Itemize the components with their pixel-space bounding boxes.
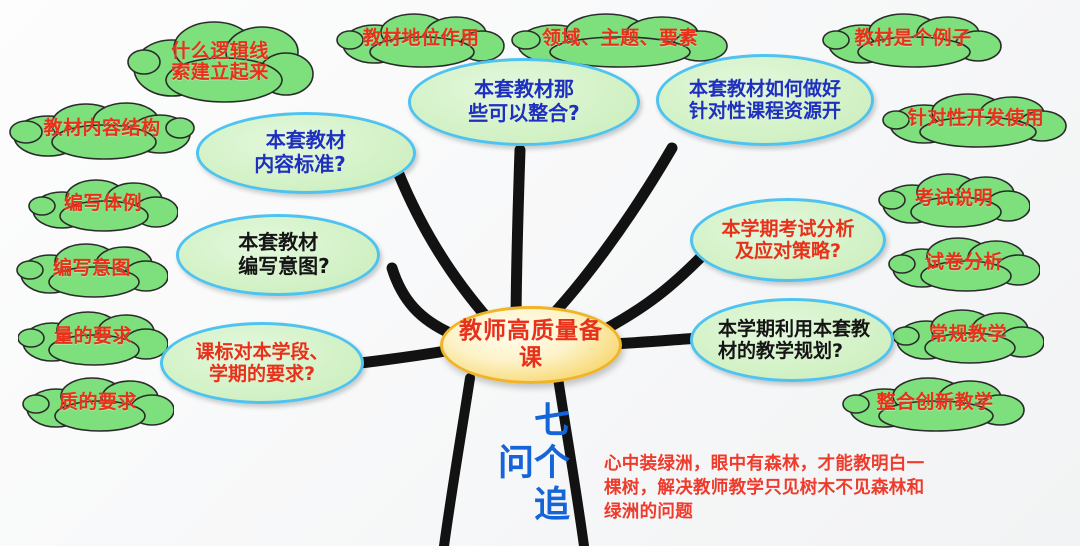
cloud-innovative[interactable]: 整合创新教学: [842, 374, 1028, 432]
cloud-quality-req[interactable]: 质的要求: [22, 374, 174, 432]
trunk-label: 七个追问: [494, 388, 566, 540]
motto-text: 心中装绿洲，眼中有森林，才能教明白一棵树，解决教师教学只见树木不见森林和绿洲的问…: [604, 452, 934, 524]
cloud-label: 教材是个例子: [848, 28, 977, 49]
node-label: 本套教材如何做好 针对性课程资源开: [679, 78, 851, 123]
center-node-label: 教师高质量备课: [456, 318, 606, 371]
cloud-label: 什么逻辑线 索建立起来: [165, 41, 275, 84]
cloud-writing-intent[interactable]: 编写意图: [16, 240, 168, 298]
cloud-label: 编写体例: [58, 193, 148, 214]
center-node[interactable]: 教师高质量备课: [440, 306, 622, 384]
cloud-label: 领域、主题、要素: [536, 28, 704, 49]
cloud-writing-style[interactable]: 编写体例: [28, 176, 178, 232]
cloud-label: 整合创新教学: [870, 392, 999, 413]
node-q-exam-analysis[interactable]: 本学期考试分析 及应对策略?: [690, 198, 886, 282]
node-label: 本套教材那 些可以整合?: [458, 78, 590, 125]
mindmap-canvas: 教材内容结构 编写体例 编写意图: [0, 0, 1080, 546]
branch-to-teaching-plan: [612, 338, 700, 344]
cloud-label: 量的要求: [48, 326, 138, 347]
cloud-label: 质的要求: [53, 392, 143, 413]
node-label: 本套教材 内容标准?: [244, 129, 368, 176]
cloud-targeted-dev[interactable]: 针对性开发使用: [882, 90, 1070, 148]
node-label: 本套教材 编写意图?: [216, 231, 340, 278]
node-q-content-standard[interactable]: 本套教材 内容标准?: [196, 112, 416, 194]
branch-to-integrate: [516, 150, 520, 330]
node-label: 本学期利用本套教 材的教学规划?: [704, 318, 880, 363]
cloud-label: 教材地位作用: [356, 28, 485, 49]
cloud-exam-spec[interactable]: 考试说明: [878, 170, 1030, 228]
node-label: 本学期考试分析 及应对策略?: [711, 218, 864, 263]
cloud-regular-teaching[interactable]: 常规教学: [892, 306, 1044, 364]
cloud-label: 教材内容结构: [37, 118, 166, 139]
branch-to-curriculum-req: [352, 350, 452, 364]
cloud-textbook-role[interactable]: 教材地位作用: [336, 10, 506, 68]
cloud-paper-analysis[interactable]: 试卷分析: [888, 234, 1040, 292]
trunk-left: [444, 378, 470, 546]
node-q-integrate[interactable]: 本套教材那 些可以整合?: [408, 58, 640, 146]
branch-to-exam-analysis: [604, 258, 700, 330]
cloud-label: 编写意图: [47, 258, 137, 279]
cloud-quantity-req[interactable]: 量的要求: [18, 308, 168, 366]
node-q-resource-dev[interactable]: 本套教材如何做好 针对性课程资源开: [656, 54, 874, 146]
cloud-label: 针对性开发使用: [902, 108, 1051, 129]
cloud-label: 考试说明: [909, 188, 999, 209]
node-label: 课标对本学段、 学期的要求?: [185, 341, 338, 386]
cloud-logic-thread[interactable]: 什么逻辑线 索建立起来: [124, 18, 316, 106]
node-q-teaching-plan[interactable]: 本学期利用本套教 材的教学规划?: [690, 298, 894, 382]
cloud-label: 常规教学: [923, 324, 1013, 345]
branch-to-writing-intent: [392, 268, 452, 334]
node-q-curriculum-req[interactable]: 课标对本学段、 学期的要求?: [160, 322, 364, 404]
cloud-label: 试卷分析: [919, 252, 1009, 273]
node-q-writing-intent[interactable]: 本套教材 编写意图?: [176, 214, 380, 296]
cloud-example[interactable]: 教材是个例子: [822, 10, 1004, 68]
cloud-content-structure[interactable]: 教材内容结构: [8, 98, 196, 160]
